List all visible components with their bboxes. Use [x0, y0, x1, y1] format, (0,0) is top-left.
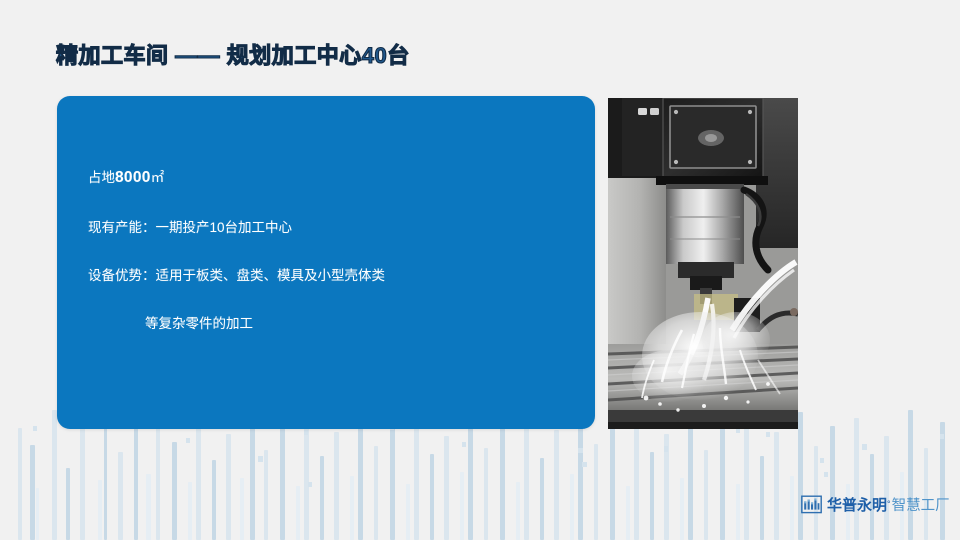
area-prefix: 占地 [88, 170, 115, 185]
decorative-bar [390, 426, 395, 540]
area-unit: ㎡ [151, 170, 165, 185]
decorative-bar [790, 476, 794, 540]
decorative-bar [172, 442, 177, 540]
decorative-dash [664, 446, 668, 452]
decorative-dash [582, 462, 587, 467]
decorative-dash [33, 426, 37, 431]
machine-photo [608, 98, 798, 429]
decorative-bar [66, 468, 70, 540]
decorative-bar [578, 412, 583, 540]
decorative-dash [308, 482, 312, 487]
panel-line-area: 占地8000㎡ [88, 168, 568, 189]
decorative-bar [484, 448, 488, 540]
decorative-bar [736, 484, 740, 540]
decorative-bar [240, 478, 244, 540]
decorative-bar [406, 484, 410, 540]
decorative-bar [720, 424, 725, 540]
decorative-bar [570, 474, 574, 540]
decorative-bar [156, 412, 160, 540]
logo-subtitle: 智慧工厂 [892, 494, 950, 515]
decorative-bar [554, 430, 559, 540]
decorative-bar [18, 428, 22, 540]
decorative-bar [680, 478, 684, 540]
factory-icon [801, 494, 822, 514]
decorative-bar [460, 472, 464, 540]
decorative-bar [516, 482, 520, 540]
decorative-bar [226, 434, 231, 540]
decorative-dash [820, 458, 824, 463]
decorative-bar [98, 480, 102, 540]
decorative-bar [118, 452, 123, 540]
decorative-bar [524, 414, 529, 540]
decorative-dash [940, 434, 944, 439]
decorative-bar [854, 418, 859, 540]
decorative-bar [280, 424, 285, 540]
decorative-bar [444, 436, 449, 540]
decorative-bar [500, 422, 505, 540]
decorative-bar [704, 450, 708, 540]
decorative-dash [766, 432, 770, 437]
decorative-bar [320, 456, 324, 540]
decorative-bar [104, 414, 107, 540]
decorative-bar [940, 422, 945, 540]
page-title: 精加工车间 —— 规划加工中心40台 [56, 38, 410, 70]
decorative-bar [80, 422, 85, 540]
decorative-bar [358, 412, 363, 540]
decorative-bar [350, 476, 354, 540]
decorative-dash [186, 438, 190, 443]
panel-line-advantage: 设备优势：适用于板类、盘类、模具及小型壳体类 [88, 267, 568, 285]
decorative-bar [798, 412, 803, 540]
decorative-bar [774, 432, 779, 540]
decorative-bar [134, 428, 138, 540]
decorative-bar [650, 452, 654, 540]
decorative-bar [634, 420, 639, 540]
decorative-dash [824, 472, 828, 477]
decorative-bar [626, 486, 630, 540]
panel-line-capacity: 现有产能：一期投产10台加工中心 [88, 219, 568, 237]
logo-brand-name: 华普永明 [827, 494, 887, 515]
decorative-bar [610, 428, 615, 540]
decorative-bar [188, 482, 192, 540]
decorative-bar [296, 486, 300, 540]
decorative-bar [884, 436, 889, 540]
decorative-bar [374, 446, 378, 540]
decorative-bar [744, 416, 749, 540]
machine-photo-graphic [608, 98, 798, 429]
decorative-bar [830, 426, 835, 540]
decorative-dash [578, 448, 583, 453]
decorative-bar [468, 410, 473, 540]
decorative-bar [908, 410, 913, 540]
decorative-bar [196, 420, 201, 540]
decorative-bar [212, 460, 216, 540]
decorative-bar [540, 458, 544, 540]
decorative-bar [594, 444, 598, 540]
panel-line-advantage-continued: 等复杂零件的加工 [88, 315, 568, 333]
panel-text-block: 占地8000㎡ 现有产能：一期投产10台加工中心 设备优势：适用于板类、盘类、模… [88, 168, 568, 334]
decorative-bar [52, 410, 57, 540]
decorative-bar [430, 454, 434, 540]
decorative-dash [462, 442, 466, 447]
logo-registered-mark: ° [887, 499, 891, 509]
decorative-bar [36, 488, 39, 540]
decorative-bar [760, 456, 764, 540]
brand-logo: 华普永明 ° 智慧工厂 [801, 491, 950, 517]
decorative-bar [146, 474, 151, 540]
decorative-bar [414, 418, 419, 540]
decorative-dash [304, 430, 308, 435]
decorative-dash [862, 444, 867, 450]
decorative-dash [258, 456, 263, 462]
content-panel: 占地8000㎡ 现有产能：一期投产10台加工中心 设备优势：适用于板类、盘类、模… [57, 96, 595, 429]
area-value: 8000 [115, 169, 151, 186]
decorative-bar [30, 445, 35, 540]
decorative-bar [334, 432, 339, 540]
decorative-bar [264, 450, 268, 540]
